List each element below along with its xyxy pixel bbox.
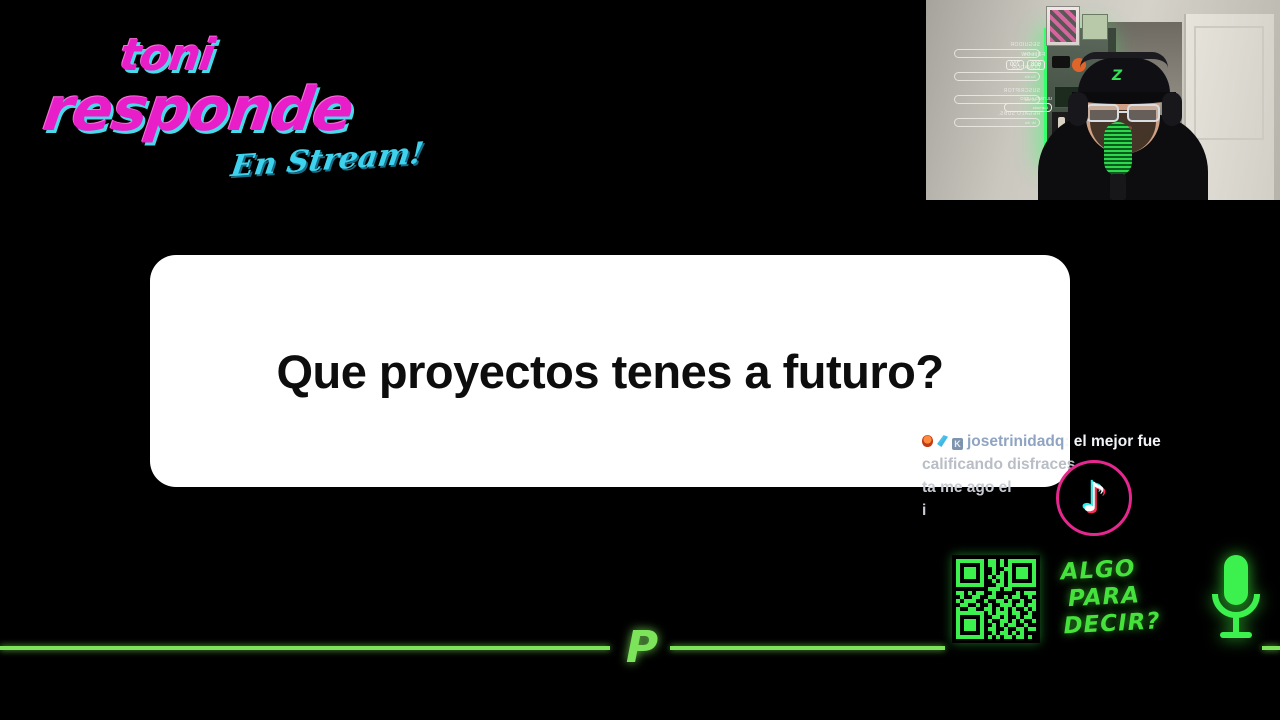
chat-username: josetrinidadq — [967, 433, 1064, 450]
glasses-lens-right — [1127, 104, 1160, 122]
person-microphone — [1104, 122, 1132, 200]
stream-overlay-stage: toni responde En Stream! SEGUIDOR Nuevo … — [0, 0, 1280, 720]
tiktok-logo-icon: ♪ — [1056, 460, 1132, 536]
glasses-bridge — [1119, 111, 1129, 113]
microphone-icon — [1208, 552, 1264, 644]
glasses-lens-left — [1086, 104, 1119, 122]
headphone-cup-left — [1068, 92, 1088, 126]
chat-message-text: el mejor fue — [1074, 433, 1161, 450]
vip-badge-icon — [937, 435, 948, 447]
moderator-badge-icon — [922, 435, 933, 447]
cta-line-3: DECIR? — [1063, 607, 1194, 641]
brand-mark-logo: P — [612, 620, 672, 676]
tiktok-note-glyph: ♪ — [1081, 478, 1107, 518]
logo-line-toni: toni — [117, 34, 385, 78]
cap-logo: Z — [1112, 68, 1122, 84]
webcam-picture-frame — [1082, 14, 1108, 40]
microphone-stand — [1110, 174, 1126, 200]
question-text: Que proyectos tenes a futuro? — [236, 344, 983, 399]
headphone-cup-right — [1162, 92, 1182, 126]
bottom-divider-right — [670, 646, 945, 650]
logo-line-responde: responde — [40, 80, 386, 140]
qr-code[interactable] — [952, 555, 1040, 643]
chat-message-header: Kjosetrinidadq: el mejor fue — [922, 430, 1212, 453]
bottom-divider-left — [0, 646, 610, 650]
webcam-poster — [1046, 6, 1080, 46]
projection-row-label: SEGUIDOR — [954, 42, 1040, 48]
call-to-action-text: ALGO PARA DECIR? — [1060, 553, 1194, 641]
projection-follow-value: 700 — [1006, 60, 1024, 70]
projection-row-value: Su dia — [954, 72, 1040, 81]
bottom-divider-far-right — [1262, 646, 1280, 650]
show-logo: toni responde En Stream! — [42, 34, 382, 184]
logo-line-en-stream: En Stream! — [229, 139, 386, 184]
person-glasses — [1084, 104, 1162, 122]
streamer-person: Z — [1038, 48, 1208, 200]
projection-row-value: Mr dia — [954, 118, 1040, 127]
subscriber-badge-icon: K — [952, 438, 963, 450]
projection-row: REGALO SUBS. Mr dia — [954, 111, 1040, 127]
webcam-feed: SEGUIDOR Nuevo DONADOR Su dia SUSCRIPTOR… — [926, 0, 1280, 200]
chat-separator: : — [1064, 433, 1073, 450]
projection-row-label: SUSCRIPTOR — [954, 88, 1040, 94]
microphone-capsule — [1104, 122, 1132, 176]
